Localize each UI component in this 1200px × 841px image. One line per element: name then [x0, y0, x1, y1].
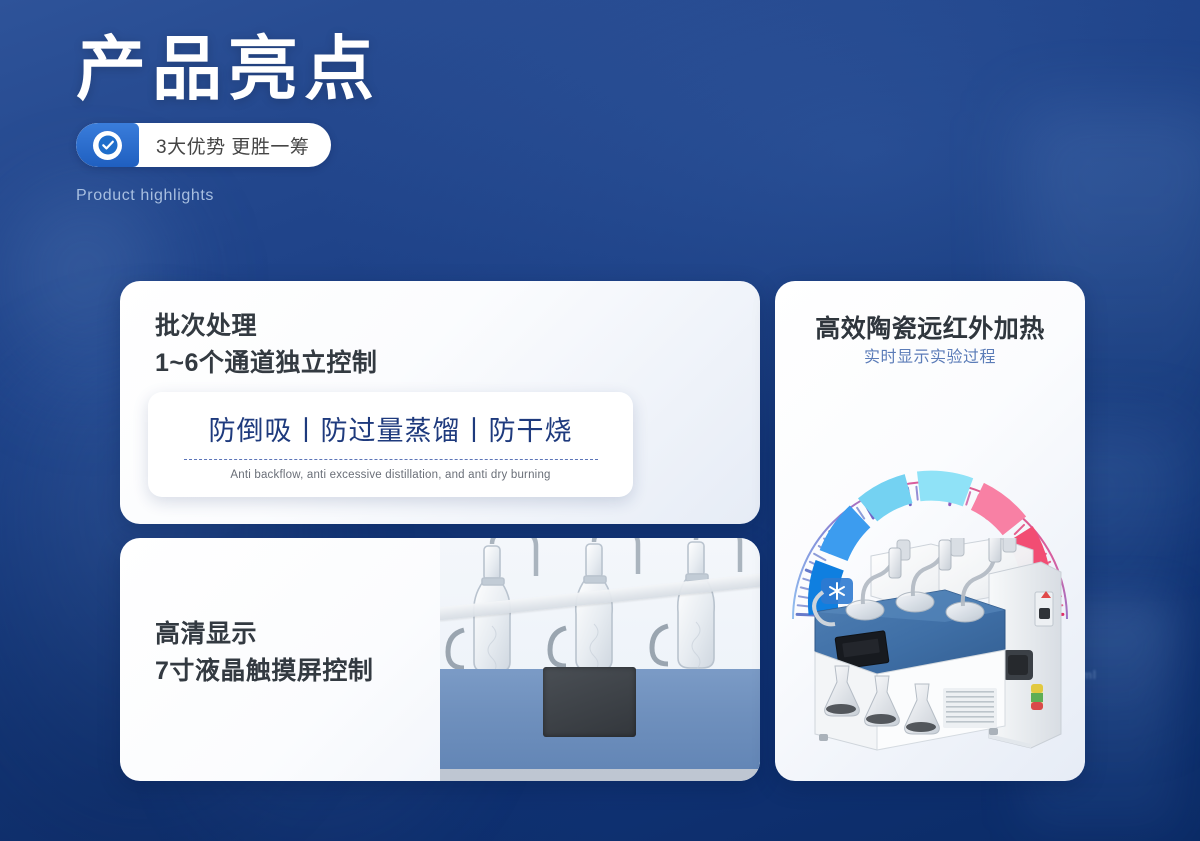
dashed-divider [184, 459, 598, 460]
distillation-unit-touchscreen-photo [440, 538, 760, 781]
distillation-unit-product-photo [793, 538, 1071, 773]
badge-label: 3大优势 更胜一筹 [139, 132, 331, 159]
product-highlights-banner: 200ml 150 100 产品亮点 3大优势 更胜一筹 Product hig… [0, 0, 1200, 841]
card-heating-title: 高效陶瓷远红外加热 [775, 309, 1085, 345]
touchscreen-display [543, 667, 636, 737]
advantage-badge: 3大优势 更胜一筹 [76, 123, 331, 167]
card-ceramic-infrared-heating: 高效陶瓷远红外加热 实时显示实验过程 [775, 281, 1085, 781]
check-circle-icon [93, 131, 122, 160]
batch-feature-panel: 防倒吸丨防过量蒸馏丨防干烧 Anti backflow, anti excess… [148, 392, 633, 497]
batch-feature-english: Anti backflow, anti excessive distillati… [230, 469, 550, 481]
card-display-heading: 高清显示 7寸液晶触摸屏控制 [155, 616, 373, 690]
page-title: 产品亮点 [76, 32, 380, 106]
card-heating-subtitle: 实时显示实验过程 [775, 343, 1085, 367]
instrument-base [440, 769, 760, 781]
card-batch-heading: 批次处理 1~6个通道独立控制 [155, 308, 377, 382]
batch-feature-chinese: 防倒吸丨防过量蒸馏丨防干烧 [209, 409, 573, 448]
card-batch-processing: 批次处理 1~6个通道独立控制 防倒吸丨防过量蒸馏丨防干烧 Anti backf… [120, 281, 760, 524]
instrument-front-panel [440, 669, 760, 769]
header-block: 产品亮点 3大优势 更胜一筹 Product highlights [76, 32, 380, 205]
card-hd-display: 高清显示 7寸液晶触摸屏控制 [120, 538, 760, 781]
page-subtitle-english: Product highlights [76, 187, 380, 205]
badge-icon-area [76, 123, 139, 167]
